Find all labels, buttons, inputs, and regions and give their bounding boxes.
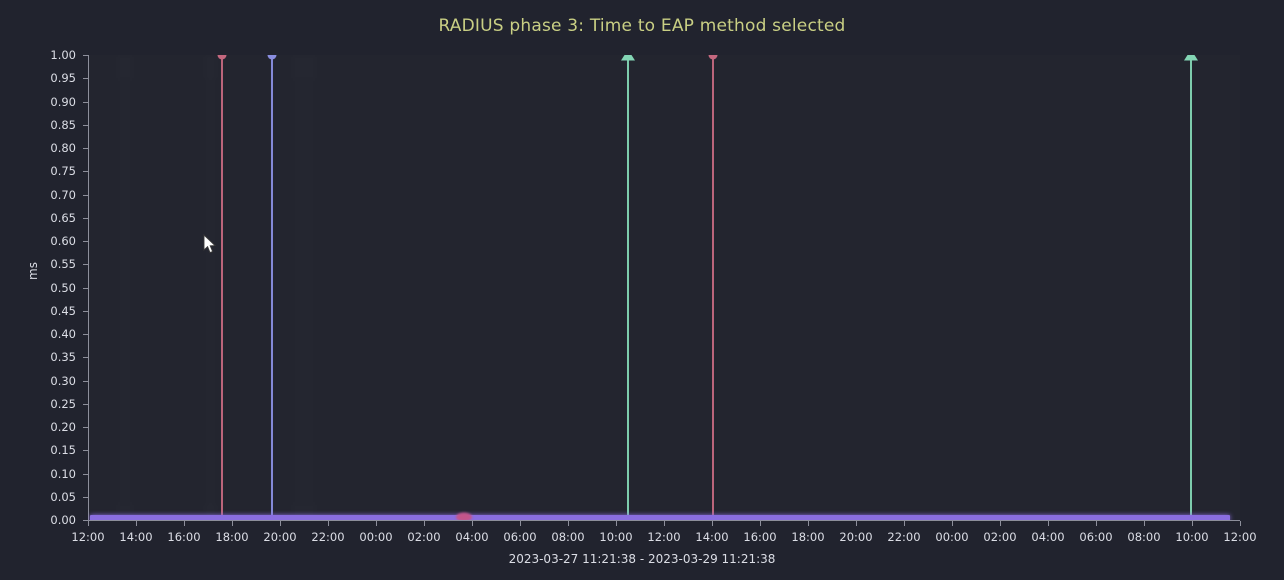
x-tick-mark — [856, 521, 857, 526]
chart-panel: RADIUS phase 3: Time to EAP method selec… — [0, 0, 1284, 580]
x-tick-mark — [1096, 521, 1097, 526]
spike-marker-circle — [217, 55, 226, 60]
circle-marker-icon — [267, 55, 276, 60]
spike-marker-circle — [267, 55, 276, 60]
x-tick-mark — [184, 521, 185, 526]
x-tick-mark — [904, 521, 905, 526]
spike-marker-triangle — [1184, 55, 1198, 61]
y-tick-label: 0.05 — [30, 490, 76, 504]
y-tick-label: 0.85 — [30, 118, 76, 132]
x-tick-mark — [88, 521, 89, 526]
x-tick-mark — [712, 521, 713, 526]
x-tick-mark — [280, 521, 281, 526]
y-tick-label: 0.30 — [30, 374, 76, 388]
y-tick-label: 0.90 — [30, 95, 76, 109]
y-tick-label: 0.65 — [30, 211, 76, 225]
x-tick-mark — [616, 521, 617, 526]
x-tick-mark — [952, 521, 953, 526]
y-tick-label: 1.00 — [30, 48, 76, 62]
y-tick-label: 0.20 — [30, 420, 76, 434]
x-tick-mark — [760, 521, 761, 526]
y-tick-label: 0.50 — [30, 281, 76, 295]
plot-area[interactable] — [88, 55, 1240, 520]
y-tick-label: 0.75 — [30, 164, 76, 178]
x-tick-mark — [376, 521, 377, 526]
triangle-up-marker-icon — [621, 55, 635, 61]
triangle-up-marker-icon — [1184, 55, 1198, 61]
x-tick-mark — [808, 521, 809, 526]
x-tick-mark — [328, 521, 329, 526]
spike-stem — [271, 55, 273, 520]
chart-title: RADIUS phase 3: Time to EAP method selec… — [0, 16, 1284, 36]
x-tick-mark — [520, 521, 521, 526]
x-tick-mark — [1000, 521, 1001, 526]
y-tick-label: 0.15 — [30, 443, 76, 457]
y-tick-label: 0.10 — [30, 467, 76, 481]
circle-marker-icon — [708, 55, 717, 60]
x-tick-mark — [424, 521, 425, 526]
x-tick-mark — [136, 521, 137, 526]
x-tick-mark — [1048, 521, 1049, 526]
x-tick-mark — [664, 521, 665, 526]
y-tick-label: 0.00 — [30, 513, 76, 527]
spike-stem — [627, 55, 629, 520]
y-tick-label: 0.80 — [30, 141, 76, 155]
x-tick-mark — [1144, 521, 1145, 526]
y-axis-spine — [88, 55, 89, 520]
y-tick-label: 0.60 — [30, 234, 76, 248]
y-tick-label: 0.55 — [30, 257, 76, 271]
y-tick-label: 0.35 — [30, 350, 76, 364]
circle-marker-icon — [217, 55, 226, 60]
x-tick-label: 12:00 — [1210, 530, 1270, 544]
x-tick-mark — [232, 521, 233, 526]
y-tick-label: 0.25 — [30, 397, 76, 411]
spike-stem — [221, 55, 223, 520]
spike-marker-triangle — [621, 55, 635, 61]
y-tick-label: 0.70 — [30, 188, 76, 202]
y-tick-label: 0.95 — [30, 71, 76, 85]
spike-marker-circle — [708, 55, 717, 60]
x-tick-mark — [1240, 521, 1241, 526]
x-tick-mark — [568, 521, 569, 526]
baseline-blip — [456, 513, 472, 520]
spike-stem — [712, 55, 714, 520]
y-tick-label: 0.40 — [30, 327, 76, 341]
x-axis-label: 2023-03-27 11:21:38 - 2023-03-29 11:21:3… — [0, 552, 1284, 566]
x-tick-mark — [1192, 521, 1193, 526]
y-tick-label: 0.45 — [30, 304, 76, 318]
spike-stem — [1190, 55, 1192, 520]
x-tick-mark — [472, 521, 473, 526]
plot-background-texture — [88, 55, 1240, 520]
